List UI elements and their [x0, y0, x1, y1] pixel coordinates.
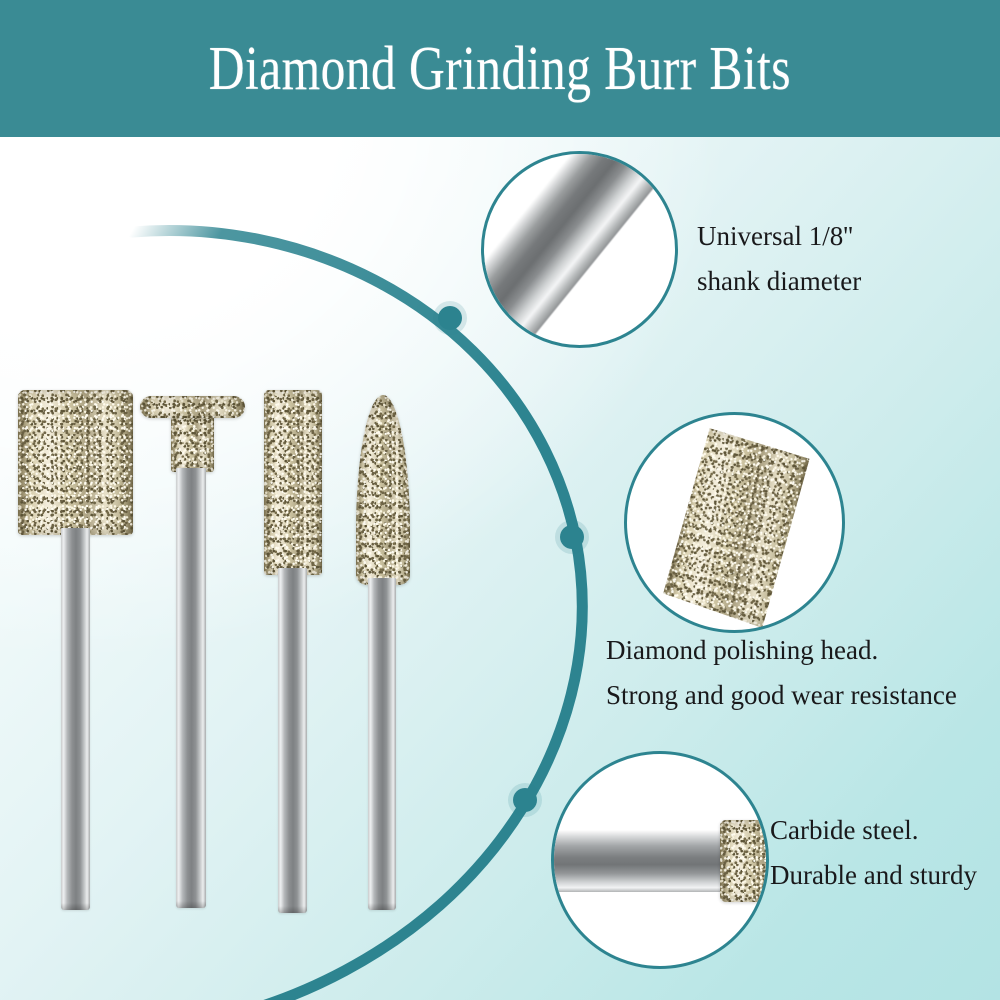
carbide-rod-closeup [551, 830, 724, 892]
caption-line-1: Diamond polishing head. [606, 628, 957, 673]
callout-caption-carbide: Carbide steel. Durable and sturdy [770, 808, 977, 898]
burr-bit-cylinder-small [262, 390, 324, 918]
caption-line-2: Durable and sturdy [770, 853, 977, 898]
diamond-grit-neck [171, 412, 214, 472]
steel-shank [176, 468, 206, 908]
callout-zoom-shank [481, 151, 678, 348]
steel-shank [278, 568, 307, 913]
page-title: Diamond Grinding Burr Bits [209, 38, 791, 100]
callout-zoom-head [624, 412, 845, 633]
steel-shank [61, 528, 90, 910]
caption-line-2: shank diameter [697, 259, 861, 304]
connector-dot-shank [438, 306, 462, 330]
diamond-grit-head [264, 390, 322, 575]
caption-line-2: Strong and good wear resistance [606, 673, 957, 718]
burr-bit-flame [352, 395, 414, 915]
diamond-grit-disc-head [140, 396, 245, 418]
caption-line-1: Carbide steel. [770, 808, 977, 853]
diamond-grit-head [356, 395, 410, 585]
burr-bit-disc [140, 390, 245, 915]
header-banner: Diamond Grinding Burr Bits [0, 0, 1000, 137]
caption-line-1: Universal 1/8'' [697, 214, 861, 259]
grit-head-closeup [660, 425, 811, 630]
burr-bit-cylinder-large [18, 390, 133, 920]
carbide-grit-tip-closeup [720, 820, 769, 902]
callout-caption-head: Diamond polishing head. Strong and good … [606, 628, 957, 718]
callout-caption-shank: Universal 1/8'' shank diameter [697, 214, 861, 304]
diamond-grit-head [18, 390, 133, 535]
connector-dot-carbide [513, 788, 537, 812]
shank-rod-closeup [481, 151, 678, 348]
product-infographic: Diamond Grinding Burr Bits [0, 0, 1000, 1000]
callout-zoom-carbide [551, 751, 769, 969]
steel-shank [368, 578, 396, 910]
connector-dot-head [560, 525, 584, 549]
